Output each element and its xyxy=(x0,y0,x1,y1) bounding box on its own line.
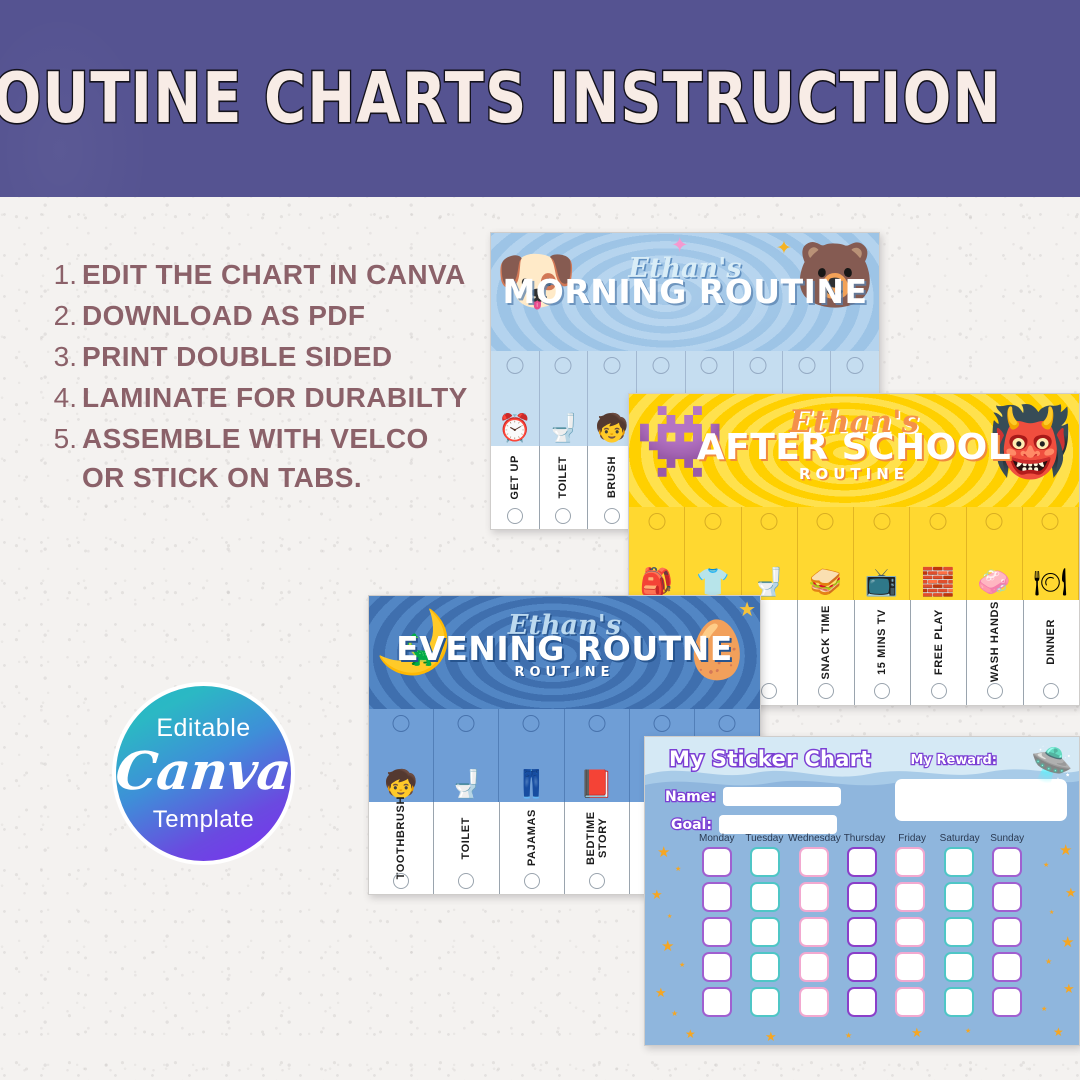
checkbox-circle[interactable] xyxy=(1043,683,1059,699)
instruction-text: PRINT DOUBLE SIDED xyxy=(82,337,478,376)
sticker-cell[interactable] xyxy=(799,847,829,877)
sticker-cell[interactable] xyxy=(702,882,732,912)
checkbox-circle[interactable] xyxy=(393,873,409,889)
sticker-cell[interactable] xyxy=(992,987,1022,1017)
sticker-chart-title: My Sticker Chart xyxy=(669,747,871,771)
day-header-wednesday: Wednesday xyxy=(788,833,841,844)
instruction-item: 4.LAMINATE FOR DURABILTY xyxy=(48,378,478,417)
sticker-cell[interactable] xyxy=(992,952,1022,982)
star-icon: ★ xyxy=(765,1029,777,1045)
morning-chart-header: 🐶 🐻 ✦ ✦ Ethan's MORNING ROUTINE xyxy=(491,233,879,351)
goal-field-row: Goal: xyxy=(671,815,837,834)
reward-label: My Reward: xyxy=(911,753,997,768)
sticker-cell-wrap xyxy=(790,847,838,877)
lego-blocks-icon: 🧱 xyxy=(921,569,955,596)
checkbox-circle[interactable] xyxy=(874,683,890,699)
sticker-cell[interactable] xyxy=(702,917,732,947)
snack-icon: 🥪 xyxy=(809,569,843,596)
alarm-clock-icon: ⏰ xyxy=(498,415,532,442)
sticker-cell[interactable] xyxy=(944,847,974,877)
routine-icon-cell[interactable]: 🥪 xyxy=(798,507,854,600)
routine-icon-cell[interactable]: 👖 xyxy=(499,709,564,802)
routine-label-text: 15 MINS TV xyxy=(876,609,888,675)
instruction-text: DOWNLOAD AS PDF xyxy=(82,296,478,335)
instruction-item: 1.EDIT THE CHART IN CANVA xyxy=(48,255,478,294)
goal-label: Goal: xyxy=(671,817,712,833)
checkbox-circle[interactable] xyxy=(555,508,571,524)
star-icon: ★ xyxy=(685,1027,696,1041)
checkbox-circle[interactable] xyxy=(847,357,864,374)
evening-chart-title: EVENING ROUTNE xyxy=(369,632,760,665)
routine-label-cell[interactable]: DINNER xyxy=(1024,600,1079,706)
sticker-cell-wrap xyxy=(886,847,934,877)
checkbox-circle[interactable] xyxy=(987,683,1003,699)
day-header-tuesday: Tuesday xyxy=(741,833,789,844)
sticker-cell-wrap xyxy=(838,847,886,877)
sticker-cell-wrap xyxy=(838,987,886,1017)
checkbox-circle[interactable] xyxy=(652,357,669,374)
sticker-cell[interactable] xyxy=(702,987,732,1017)
checkbox-circle[interactable] xyxy=(523,715,540,732)
header-banner: ROUTINE CHARTS INSTRUCTION xyxy=(0,0,1080,197)
routine-label-cell[interactable]: WASH HANDS xyxy=(967,600,1023,706)
sticker-cell[interactable] xyxy=(944,917,974,947)
sticker-cell[interactable] xyxy=(702,952,732,982)
checkbox-circle[interactable] xyxy=(761,513,778,530)
dinner-plate-icon: 🍽 xyxy=(1033,569,1067,596)
routine-icon-cell[interactable]: 🧒 xyxy=(369,709,434,802)
routine-label-text: SNACK TIME xyxy=(820,605,832,679)
checkbox-circle[interactable] xyxy=(604,508,620,524)
routine-label-text: TOILET xyxy=(460,817,472,860)
routine-label-cell[interactable]: GET UP xyxy=(491,446,540,530)
checkbox-circle[interactable] xyxy=(1042,513,1059,530)
sticker-cell[interactable] xyxy=(750,882,780,912)
checkbox-circle[interactable] xyxy=(761,683,777,699)
instruction-text: ASSEMBLE WITH VELCO OR STICK ON TABS. xyxy=(82,419,478,497)
sticker-cell-wrap xyxy=(693,987,741,1017)
instruction-text: EDIT THE CHART IN CANVA xyxy=(82,255,478,294)
checkbox-circle[interactable] xyxy=(507,508,523,524)
instruction-number: 5. xyxy=(48,419,82,458)
sticker-cell-wrap xyxy=(741,952,789,982)
backpack-icon: 🎒 xyxy=(640,569,674,596)
checkbox-circle[interactable] xyxy=(701,357,718,374)
canva-template-badge: Editable Canva Template xyxy=(112,682,295,865)
wash-hands-icon: 🧼 xyxy=(977,569,1011,596)
my-sticker-chart[interactable]: My Sticker Chart My Reward: 🛸 Name: Goal… xyxy=(644,736,1080,1046)
checkbox-circle[interactable] xyxy=(817,513,834,530)
sticker-cell-wrap xyxy=(693,952,741,982)
checkbox-circle[interactable] xyxy=(718,715,735,732)
routine-icon-cell[interactable]: ⏰ xyxy=(491,351,540,446)
routine-label-cell[interactable]: SNACK TIME xyxy=(798,600,854,706)
routine-label-text: TOOTHBRUSH xyxy=(395,796,407,879)
sticker-cell[interactable] xyxy=(944,882,974,912)
sticker-cell-wrap xyxy=(983,987,1031,1017)
routine-label-cell[interactable]: 15 MINS TV xyxy=(855,600,911,706)
brush-teeth-icon: 🧒 xyxy=(595,415,629,442)
sticker-cell-wrap xyxy=(741,882,789,912)
morning-chart-title: MORNING ROUTINE xyxy=(491,275,879,308)
sticker-cell-wrap xyxy=(693,882,741,912)
sticker-cell-wrap xyxy=(790,987,838,1017)
sticker-cell-wrap xyxy=(838,917,886,947)
checkbox-circle[interactable] xyxy=(648,513,665,530)
sticker-cell-wrap xyxy=(886,952,934,982)
checkbox-circle[interactable] xyxy=(458,873,474,889)
checkbox-circle[interactable] xyxy=(604,357,621,374)
sticker-cell[interactable] xyxy=(847,882,877,912)
routine-icon-cell[interactable]: 🧱 xyxy=(910,507,966,600)
sticker-row xyxy=(693,847,1031,877)
sticker-row xyxy=(693,987,1031,1017)
sticker-cell[interactable] xyxy=(992,882,1022,912)
routine-icon-cell[interactable]: 🚽 xyxy=(540,351,589,446)
sticker-cell[interactable] xyxy=(847,952,877,982)
badge-template-label: Template xyxy=(153,806,254,834)
sticker-cell[interactable] xyxy=(944,987,974,1017)
routine-label-cell[interactable]: FREE PLAY xyxy=(911,600,967,706)
instruction-number: 3. xyxy=(48,337,82,376)
checkbox-circle[interactable] xyxy=(798,357,815,374)
routine-label-cell[interactable]: TOOTHBRUSH xyxy=(369,802,434,895)
sticker-cell[interactable] xyxy=(799,882,829,912)
sticker-cell-wrap xyxy=(693,847,741,877)
name-input[interactable] xyxy=(723,787,841,806)
routine-icon-cell[interactable]: 🚽 xyxy=(742,507,798,600)
sticker-cell-wrap xyxy=(790,882,838,912)
sticker-cell[interactable] xyxy=(750,917,780,947)
sticker-row xyxy=(693,917,1031,947)
routine-icon-cell[interactable]: 🧼 xyxy=(967,507,1023,600)
checkbox-circle[interactable] xyxy=(818,683,834,699)
day-header-monday: Monday xyxy=(693,833,741,844)
sticker-cell-wrap xyxy=(983,952,1031,982)
star-icon: ★ xyxy=(845,1031,852,1040)
sticker-cell-wrap xyxy=(934,952,982,982)
after-school-icon-row: 🎒👕🚽🥪📺🧱🧼🍽 xyxy=(629,507,1079,600)
routine-label-text: GET UP xyxy=(509,455,521,500)
page-title: ROUTINE CHARTS INSTRUCTION xyxy=(0,58,1002,139)
checkbox-circle[interactable] xyxy=(458,715,475,732)
instruction-number: 1. xyxy=(48,255,82,294)
routine-icon-cell[interactable]: 🎒 xyxy=(629,507,685,600)
sticker-cell[interactable] xyxy=(847,987,877,1017)
after-school-chart-title: AFTER SCHOOL xyxy=(629,430,1079,466)
sticker-cell-wrap xyxy=(934,917,982,947)
checkbox-circle[interactable] xyxy=(704,513,721,530)
checkbox-circle[interactable] xyxy=(589,873,605,889)
after-school-chart-header: 👾 👹 Ethan's AFTER SCHOOL ROUTINE xyxy=(629,394,1079,507)
toilet-icon: 🚽 xyxy=(752,569,786,596)
sticker-cell[interactable] xyxy=(992,847,1022,877)
checkbox-circle[interactable] xyxy=(506,357,523,374)
instruction-number: 4. xyxy=(48,378,82,417)
routine-label-text: TOILET xyxy=(557,456,569,499)
name-label: Name: xyxy=(665,789,716,805)
sticker-cell-wrap xyxy=(934,847,982,877)
sticker-cell-wrap xyxy=(886,917,934,947)
routine-icon-cell[interactable]: 🚽 xyxy=(434,709,499,802)
sticker-cell[interactable] xyxy=(750,952,780,982)
pajamas-icon: 👖 xyxy=(515,771,549,798)
day-header-friday: Friday xyxy=(888,833,936,844)
checkbox-circle[interactable] xyxy=(873,513,890,530)
after-school-chart-title-block: Ethan's AFTER SCHOOL ROUTINE xyxy=(629,407,1079,482)
instruction-number: 2. xyxy=(48,296,82,335)
routine-icon-cell[interactable]: 📺 xyxy=(854,507,910,600)
sticker-cell[interactable] xyxy=(895,882,925,912)
after-school-chart-subtitle: ROUTINE xyxy=(629,467,1079,482)
sticker-cell-wrap xyxy=(886,882,934,912)
name-field-row: Name: xyxy=(665,787,841,806)
sticker-cell[interactable] xyxy=(944,952,974,982)
sticker-cell[interactable] xyxy=(895,987,925,1017)
routine-label-cell[interactable]: BEDTIME STORY xyxy=(565,802,630,895)
sticker-cell[interactable] xyxy=(847,917,877,947)
sticker-cell[interactable] xyxy=(847,847,877,877)
checkbox-circle[interactable] xyxy=(653,715,670,732)
sticker-cell-wrap xyxy=(790,952,838,982)
routine-label-text: BRUSH xyxy=(606,456,618,498)
star-icon: ★ xyxy=(965,1027,971,1035)
routine-label-text: DINNER xyxy=(1045,619,1057,665)
sticker-row xyxy=(693,882,1031,912)
sticker-cell-wrap xyxy=(934,882,982,912)
goal-input[interactable] xyxy=(719,815,837,834)
evening-chart-header: 🌙 🦕 🥚 ★ Ethan's EVENING ROUTNE ROUTINE xyxy=(369,596,760,709)
routine-label-text: BEDTIME STORY xyxy=(585,802,609,874)
storybook-icon: 📕 xyxy=(580,771,614,798)
sticker-cell-wrap xyxy=(983,847,1031,877)
star-icon: ★ xyxy=(1053,1025,1064,1039)
sticker-cell-wrap xyxy=(838,952,886,982)
sticker-cell-wrap xyxy=(983,882,1031,912)
routine-label-text: PAJAMAS xyxy=(526,809,538,866)
sticker-cell-wrap xyxy=(934,987,982,1017)
sticker-cell-wrap xyxy=(693,917,741,947)
sticker-grid xyxy=(645,847,1079,1022)
sticker-cell[interactable] xyxy=(895,917,925,947)
sticker-cell-wrap xyxy=(983,917,1031,947)
routine-label-cell[interactable]: TOILET xyxy=(434,802,499,895)
routine-label-text: FREE PLAY xyxy=(933,609,945,675)
checkbox-circle[interactable] xyxy=(929,513,946,530)
sticker-cell[interactable] xyxy=(750,847,780,877)
sticker-cell[interactable] xyxy=(750,987,780,1017)
sticker-cell-wrap xyxy=(838,882,886,912)
checkbox-circle[interactable] xyxy=(931,683,947,699)
day-header-row: MondayTuesdayWednesdayThursdayFridaySatu… xyxy=(645,833,1079,844)
sticker-cell-wrap xyxy=(741,917,789,947)
uniform-icon: 👕 xyxy=(696,569,730,596)
instruction-item: 5.ASSEMBLE WITH VELCO OR STICK ON TABS. xyxy=(48,419,478,497)
routine-icon-cell[interactable]: 🍽 xyxy=(1023,507,1079,600)
instruction-text: LAMINATE FOR DURABILTY xyxy=(82,378,478,417)
reward-input[interactable] xyxy=(895,779,1067,821)
toilet-icon: 🚽 xyxy=(449,771,483,798)
toilet-icon: 🚽 xyxy=(547,415,581,442)
brush-teeth-icon: 🧒 xyxy=(384,771,418,798)
sticker-cell[interactable] xyxy=(702,847,732,877)
instruction-list: 1.EDIT THE CHART IN CANVA2.DOWNLOAD AS P… xyxy=(48,255,478,499)
ufo-alien-icon: 🛸 xyxy=(1031,745,1073,785)
sticker-cell-wrap xyxy=(741,847,789,877)
instruction-item: 3.PRINT DOUBLE SIDED xyxy=(48,337,478,376)
sticker-cell[interactable] xyxy=(799,917,829,947)
evening-chart-title-block: Ethan's EVENING ROUTNE ROUTINE xyxy=(369,612,760,679)
badge-editable-label: Editable xyxy=(156,714,250,743)
routine-label-text: WASH HANDS xyxy=(989,601,1001,682)
routine-icon-cell[interactable]: 📕 xyxy=(565,709,630,802)
sticker-cell[interactable] xyxy=(895,952,925,982)
sticker-cell[interactable] xyxy=(992,917,1022,947)
checkbox-circle[interactable] xyxy=(986,513,1003,530)
television-icon: 📺 xyxy=(865,569,899,596)
sticker-cell-wrap xyxy=(790,917,838,947)
checkbox-circle[interactable] xyxy=(393,715,410,732)
instruction-item: 2.DOWNLOAD AS PDF xyxy=(48,296,478,335)
checkbox-circle[interactable] xyxy=(555,357,572,374)
day-header-thursday: Thursday xyxy=(841,833,889,844)
star-icon: ★ xyxy=(911,1025,923,1041)
day-header-saturday: Saturday xyxy=(936,833,984,844)
sticker-cell[interactable] xyxy=(895,847,925,877)
sticker-cell[interactable] xyxy=(799,987,829,1017)
routine-label-cell[interactable]: PAJAMAS xyxy=(500,802,565,895)
morning-chart-title-block: Ethan's MORNING ROUTINE xyxy=(491,255,879,308)
day-header-sunday: Sunday xyxy=(983,833,1031,844)
routine-icon-cell[interactable]: 👕 xyxy=(685,507,741,600)
checkbox-circle[interactable] xyxy=(749,357,766,374)
sticker-row xyxy=(693,952,1031,982)
sticker-cell-wrap xyxy=(886,987,934,1017)
badge-canva-wordmark: Canva xyxy=(113,741,294,802)
routine-label-cell[interactable]: TOILET xyxy=(540,446,589,530)
sticker-cell-wrap xyxy=(741,987,789,1017)
sticker-cell[interactable] xyxy=(799,952,829,982)
checkbox-circle[interactable] xyxy=(588,715,605,732)
checkbox-circle[interactable] xyxy=(524,873,540,889)
